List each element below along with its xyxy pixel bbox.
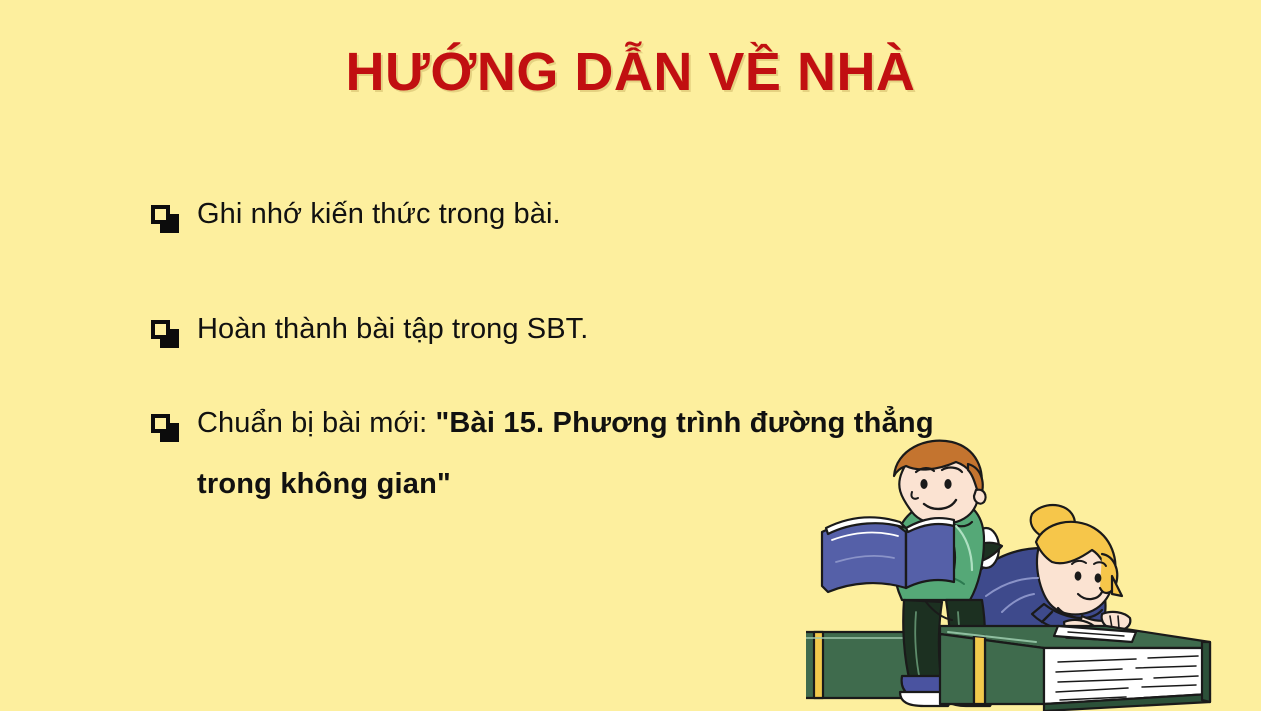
- slide-canvas: HƯỚNG DẪN VỀ NHÀ Ghi nhớ kiến thức trong…: [0, 0, 1261, 711]
- hollow-square-bullet-icon: [151, 414, 170, 433]
- open-book: [822, 517, 954, 592]
- list-item-label-emphasis-line2: trong không gian": [197, 466, 1145, 503]
- bullet-list: Ghi nhớ kiến thức trong bài. Hoàn thành …: [145, 196, 1145, 503]
- list-item: Ghi nhớ kiến thức trong bài.: [145, 196, 1145, 233]
- list-item: Chuẩn bị bài mới: "Bài 15. Phương trình …: [145, 405, 1145, 503]
- hollow-square-bullet-icon: [151, 320, 170, 339]
- list-item-label-emphasis: "Bài 15. Phương trình đường thẳng: [435, 407, 933, 439]
- page-title: HƯỚNG DẪN VỀ NHÀ: [0, 44, 1261, 101]
- list-item: Hoàn thành bài tập trong SBT.: [145, 311, 1145, 348]
- list-item-label: Hoàn thành bài tập trong SBT.: [197, 313, 588, 345]
- list-item-label-plain: Chuẩn bị bài mới:: [197, 407, 435, 439]
- hollow-square-bullet-icon: [151, 205, 170, 224]
- list-item-label: Ghi nhớ kiến thức trong bài.: [197, 198, 561, 230]
